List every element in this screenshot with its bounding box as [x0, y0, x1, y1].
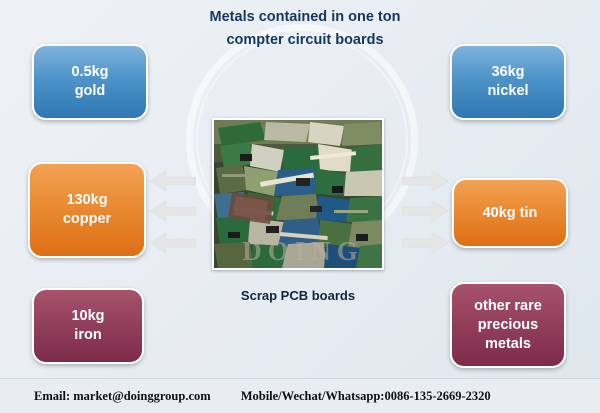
infographic-canvas: Metals contained in one ton compter circ…	[0, 0, 600, 413]
arrow-right-icon	[402, 200, 448, 222]
page-title-line2: compter circuit boards	[120, 29, 490, 52]
page-title-line1: Metals contained in one ton	[120, 6, 490, 29]
footer-email[interactable]: Email: market@doinggroup.com	[34, 389, 211, 404]
footer-bar: Email: market@doinggroup.com Mobile/Wech…	[0, 378, 600, 413]
arrow-right-icon	[402, 170, 448, 192]
footer-phone[interactable]: Mobile/Wechat/Whatsapp:0086-135-2669-232…	[241, 389, 491, 404]
scrap-pcb-boards-photo	[212, 118, 384, 270]
metal-box-nickel[interactable]: 36kg nickel	[450, 44, 566, 120]
metal-box-tin[interactable]: 40kg tin	[452, 178, 568, 248]
metal-box-iron[interactable]: 10kg iron	[32, 288, 144, 364]
page-title: Metals contained in one ton compter circ…	[120, 6, 490, 52]
center-image-caption: Scrap PCB boards	[200, 288, 396, 303]
arrow-left-icon	[150, 170, 196, 192]
arrow-left-icon	[150, 232, 196, 254]
metal-box-gold[interactable]: 0.5kg gold	[32, 44, 148, 120]
arrow-left-icon	[150, 200, 196, 222]
metal-box-other-rare-precious-metals[interactable]: other rare precious metals	[450, 282, 566, 368]
metal-box-copper[interactable]: 130kg copper	[28, 162, 146, 258]
arrow-right-icon	[402, 232, 448, 254]
